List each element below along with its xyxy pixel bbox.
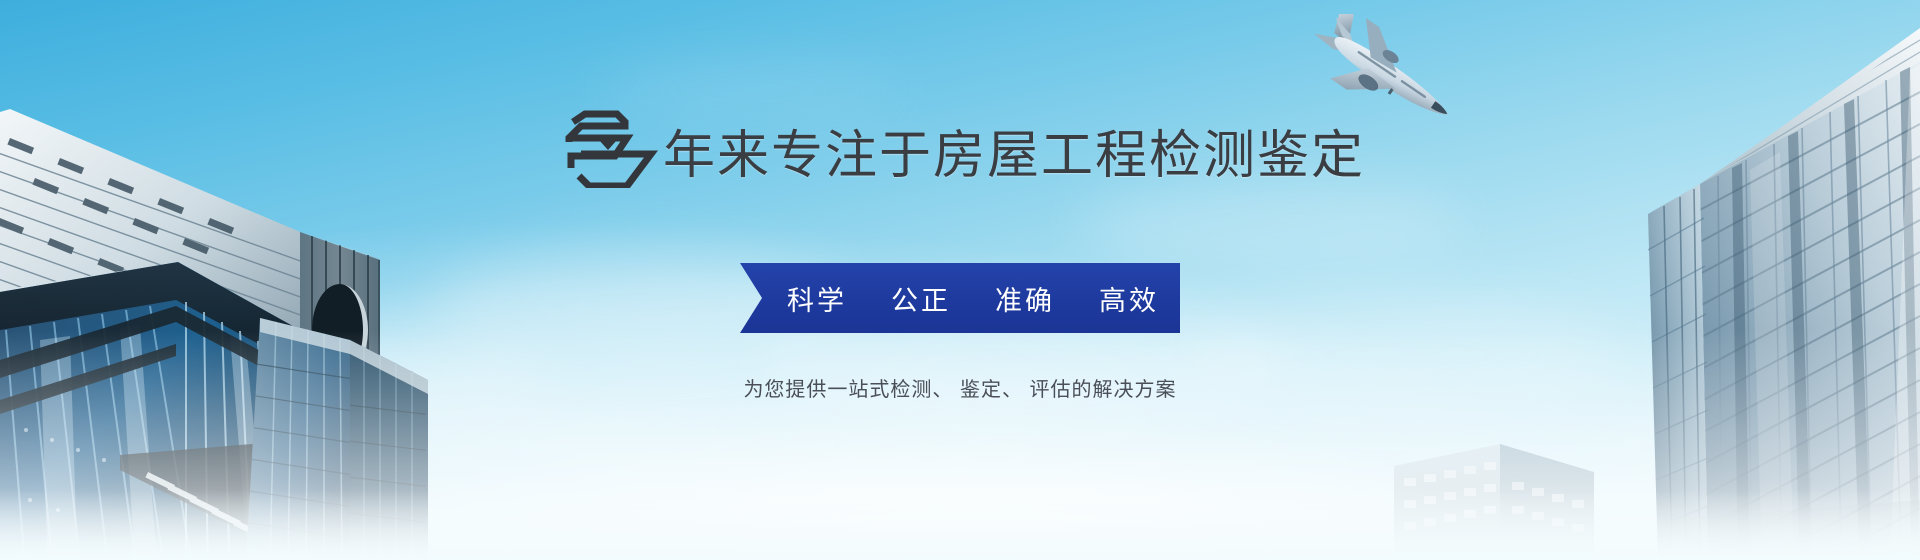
banner-content: 年来专注于房屋工程检测鉴定 科学 公正 准确 高效 为您提供一站式检测、 鉴定、… (0, 0, 1920, 560)
hero-banner: 年来专注于房屋工程检测鉴定 科学 公正 准确 高效 为您提供一站式检测、 鉴定、… (0, 0, 1920, 560)
stylized-duo-character-icon (555, 108, 659, 188)
ribbon-item-gongzheng: 公正 (891, 279, 951, 318)
ribbon-items: 科学 公正 准确 高效 (740, 263, 1180, 333)
headline: 年来专注于房屋工程检测鉴定 (555, 108, 1365, 184)
ribbon-item-zhunque: 准确 (995, 279, 1055, 318)
ribbon-item-gaoxiao: 高效 (1099, 279, 1159, 318)
headline-text: 年来专注于房屋工程检测鉴定 (663, 128, 1365, 184)
subtitle-text: 为您提供一站式检测、 鉴定、 评估的解决方案 (743, 373, 1176, 402)
ribbon-item-kexue: 科学 (787, 279, 847, 318)
slogan-ribbon: 科学 公正 准确 高效 (740, 263, 1180, 333)
